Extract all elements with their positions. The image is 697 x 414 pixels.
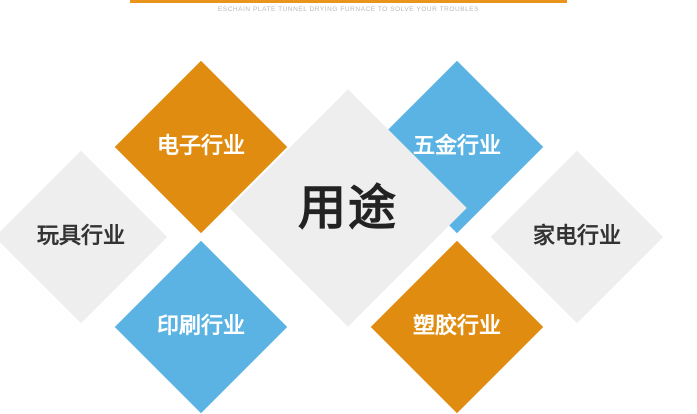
usage-diamond-diagram: 玩具行业 家电行业 电子行业 五金行业 印刷行业 塑胶行业 用途 bbox=[0, 18, 697, 414]
diamond-label-plastic-industry: 塑胶行业 bbox=[413, 316, 501, 338]
diamond-label-electronics-industry: 电子行业 bbox=[157, 136, 245, 158]
top-banner: ESCHAIN PLATE TUNNEL DRYING FURNACE TO S… bbox=[0, 0, 697, 18]
banner-accent-bar bbox=[130, 0, 567, 3]
diamond-toys-industry: 玩具行业 bbox=[0, 151, 167, 324]
diamond-label-printing-industry: 印刷行业 bbox=[157, 316, 245, 338]
diamond-label-hardware-industry: 五金行业 bbox=[413, 136, 501, 158]
diamond-label-toys-industry: 玩具行业 bbox=[37, 226, 125, 248]
diagram-center-title: 用途 bbox=[298, 184, 398, 232]
diamond-printing-industry: 印刷行业 bbox=[115, 241, 288, 414]
diamond-home-appliance-industry: 家电行业 bbox=[491, 151, 664, 324]
diamond-label-home-appliance-industry: 家电行业 bbox=[533, 226, 621, 248]
banner-tagline: ESCHAIN PLATE TUNNEL DRYING FURNACE TO S… bbox=[0, 6, 697, 13]
